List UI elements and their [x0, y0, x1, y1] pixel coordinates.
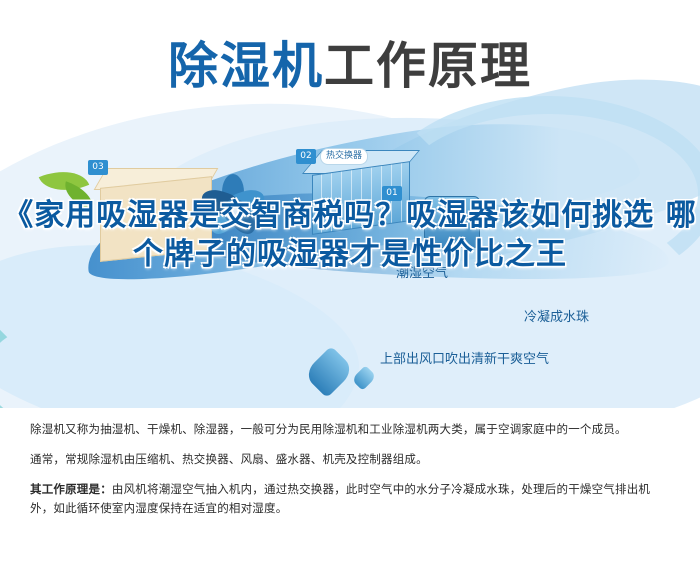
callout-number: 02 [296, 149, 316, 164]
principle-text: 由风机将潮湿空气抽入机内，通过热交换器，此时空气中的水分子冷凝成水珠，处理后的干… [30, 482, 650, 515]
banner-title-primary: 除湿机 [168, 37, 324, 95]
overlay-headline: 《家用吸湿器是交智商税吗？吸湿器该如何挑选 哪个牌子的吸湿器才是性价比之王 [0, 196, 700, 274]
article-paragraph-2: 通常，常规除湿机由压缩机、热交换器、风扇、盛水器、机壳及控制器组成。 [30, 450, 670, 469]
article-body: 除湿机又称为抽湿机、干燥机、除湿器，一般可分为民用除湿机和工业除湿机两大类，属于… [0, 408, 700, 529]
banner-title: 除湿机工作原理 [0, 26, 700, 98]
callout-label-heat-exchanger: 热交换器 [320, 148, 368, 165]
banner-title-secondary: 工作原理 [324, 37, 532, 95]
callout-tag-02: 02 热交换器 [296, 148, 368, 165]
principle-lead: 其工作原理是： [30, 482, 112, 496]
callout-number: 03 [88, 160, 108, 175]
callout-tag-03: 03 [88, 160, 108, 175]
air-label-outlet: 上部出风口吹出清新干爽空气 [380, 348, 549, 367]
article-paragraph-1: 除湿机又称为抽湿机、干燥机、除湿器，一般可分为民用除湿机和工业除湿机两大类，属于… [30, 420, 670, 439]
air-label-condensation: 冷凝成水珠 [524, 306, 589, 325]
article-paragraph-3: 其工作原理是：由风机将潮湿空气抽入机内，通过热交换器，此时空气中的水分子冷凝成水… [30, 480, 670, 518]
banner-illustration: 除湿机工作原理 03 [0, 0, 700, 408]
page-root: 除湿机工作原理 03 [0, 0, 700, 566]
